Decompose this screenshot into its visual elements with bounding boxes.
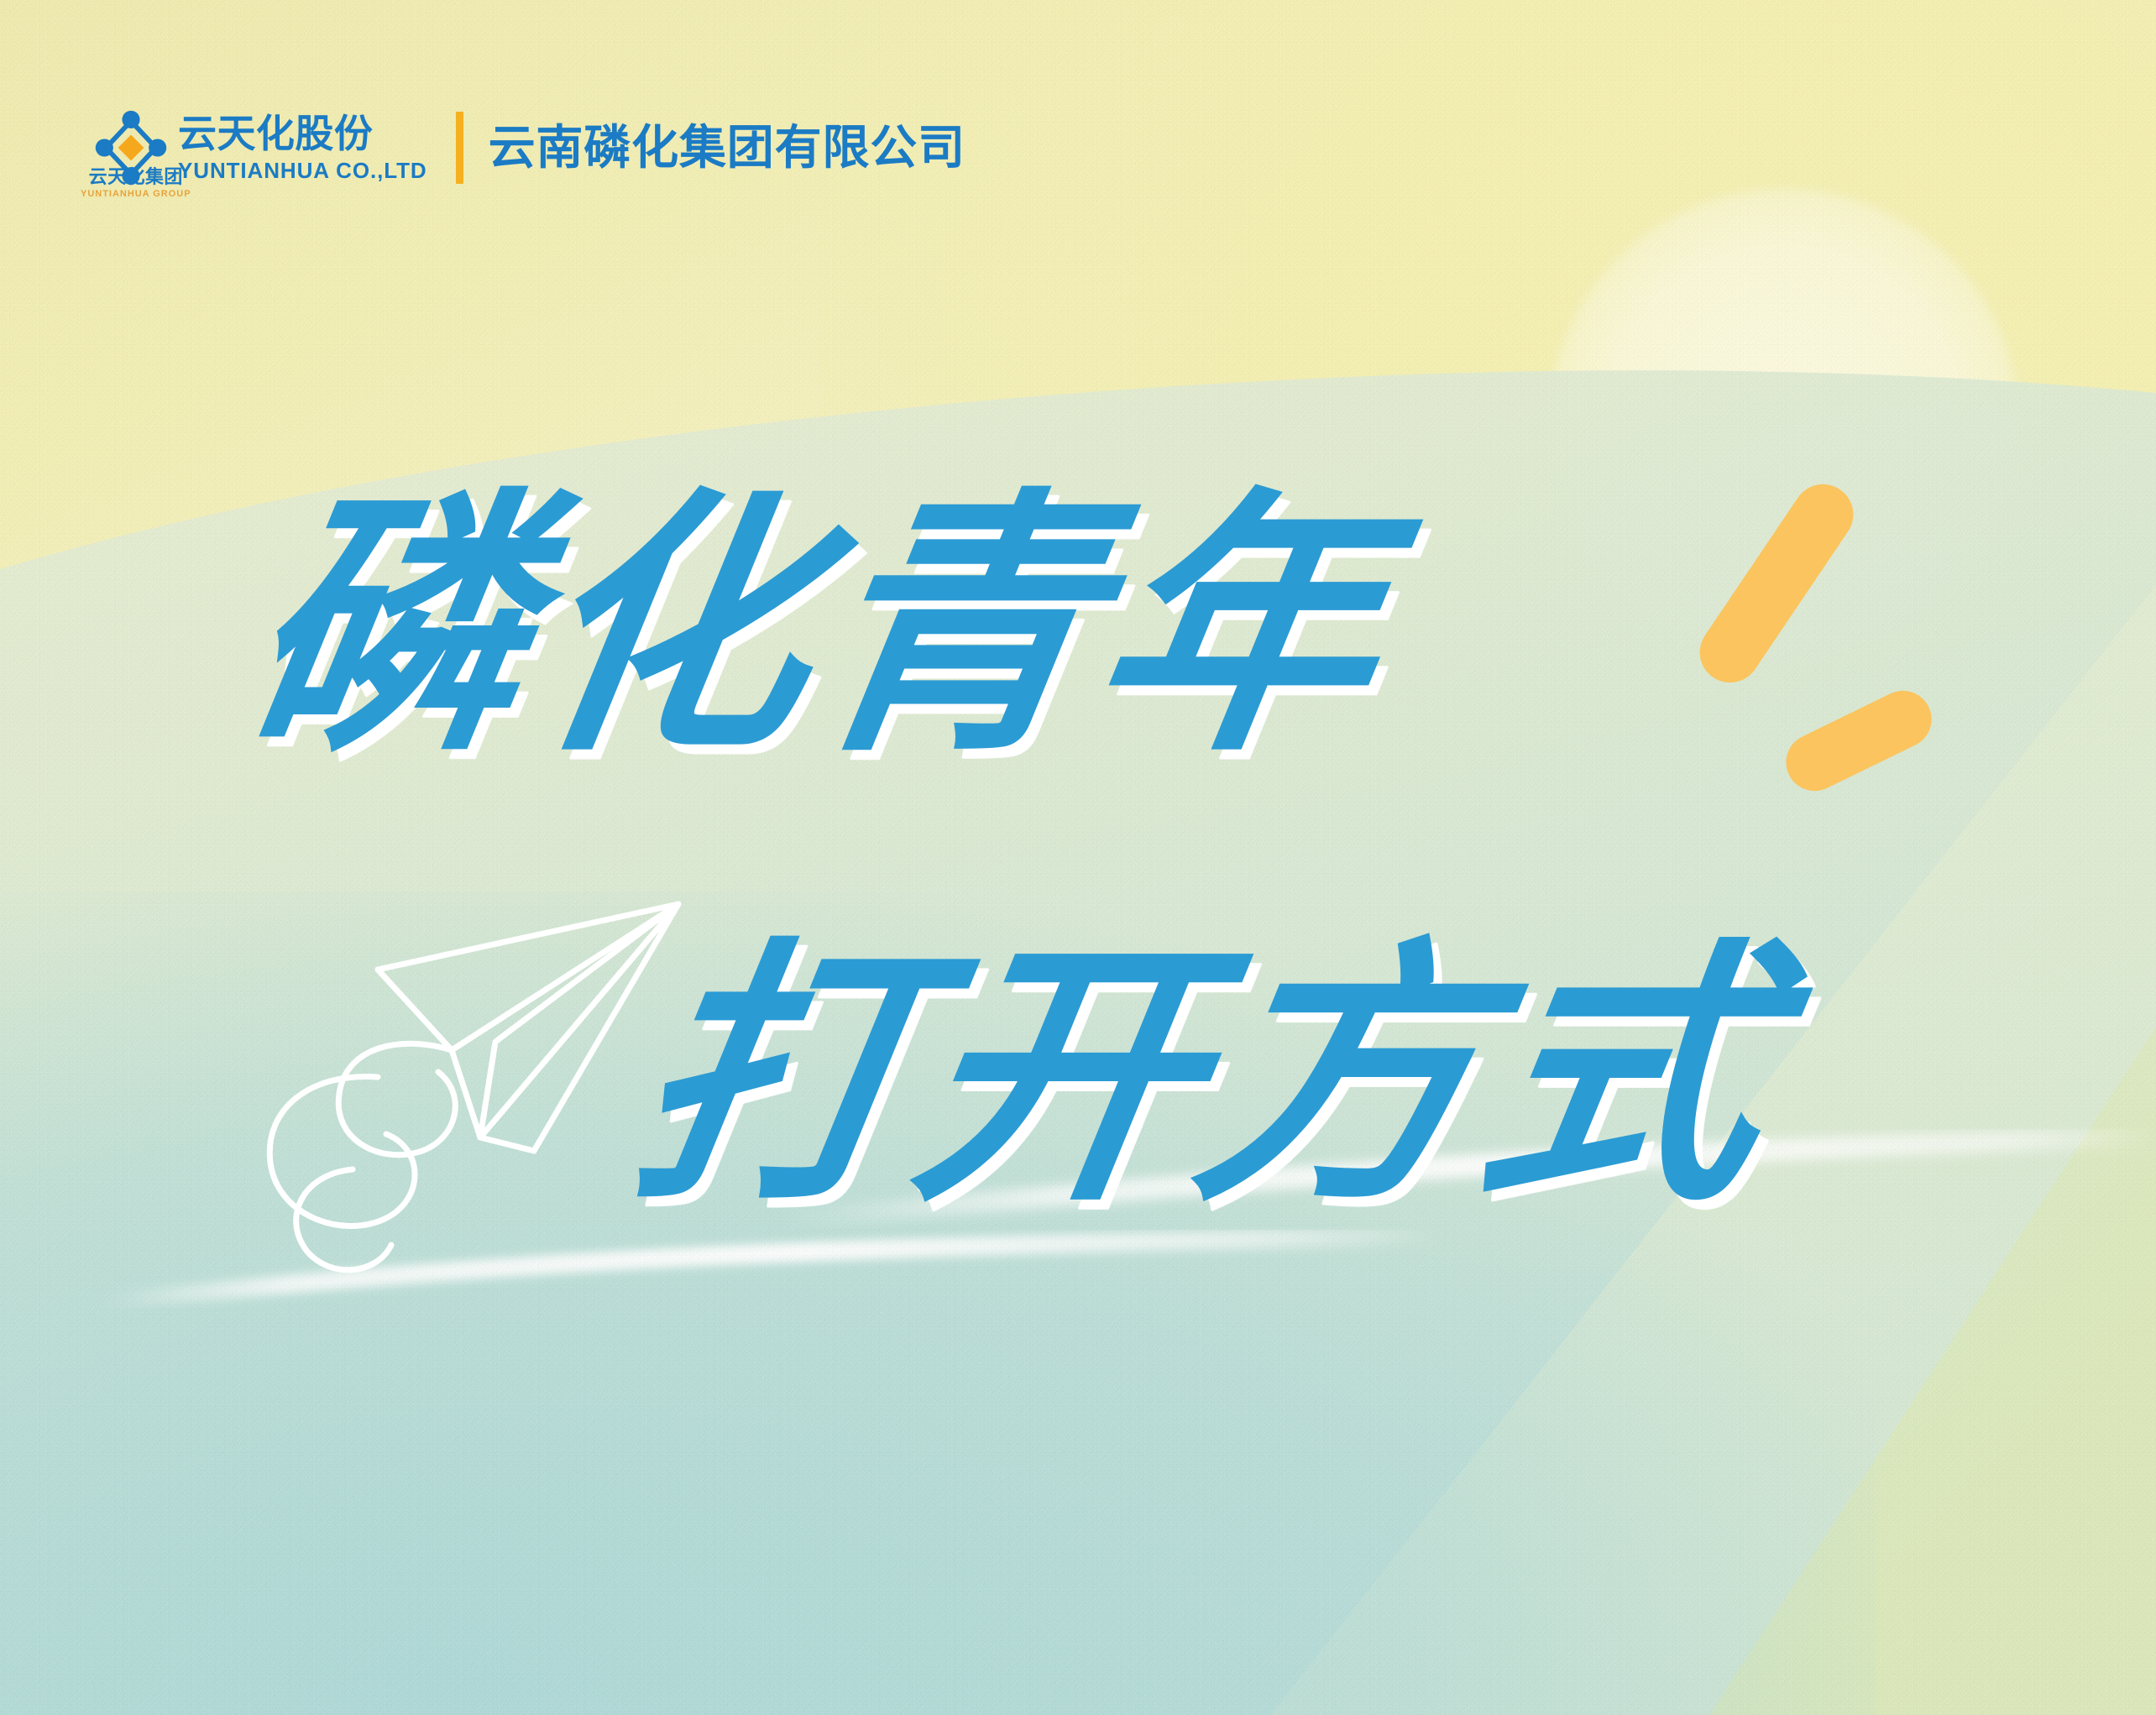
brand-header: 云天化股份 YUNTIANHUA CO.,LTD 云南磷化集团有限公司 (91, 107, 965, 188)
brand-logo-text: 云天化股份 YUNTIANHUA CO.,LTD (178, 113, 427, 182)
orange-brush-stroke-short (1830, 663, 1887, 818)
brand-logo-en: YUNTIANHUA CO.,LTD (178, 159, 427, 183)
yuntianhua-diamond-network-logo-icon (91, 107, 171, 188)
paper-plane-doodle-icon (252, 886, 722, 1280)
poster-canvas: 磷化青年 打开方式 云天化股份 YUNTIANHUA CO.,LTD 云南磷化集… (0, 0, 2156, 1715)
brand-divider (456, 112, 463, 184)
paper-grain-texture-2 (0, 0, 2156, 1715)
company-name: 云南磷化集团有限公司 (489, 124, 965, 171)
orange-brush-stroke-long (1746, 470, 1807, 697)
brand-group-en: YUNTIANHUA GROUP (81, 190, 191, 199)
brand-logo-cn: 云天化股份 (178, 113, 427, 154)
